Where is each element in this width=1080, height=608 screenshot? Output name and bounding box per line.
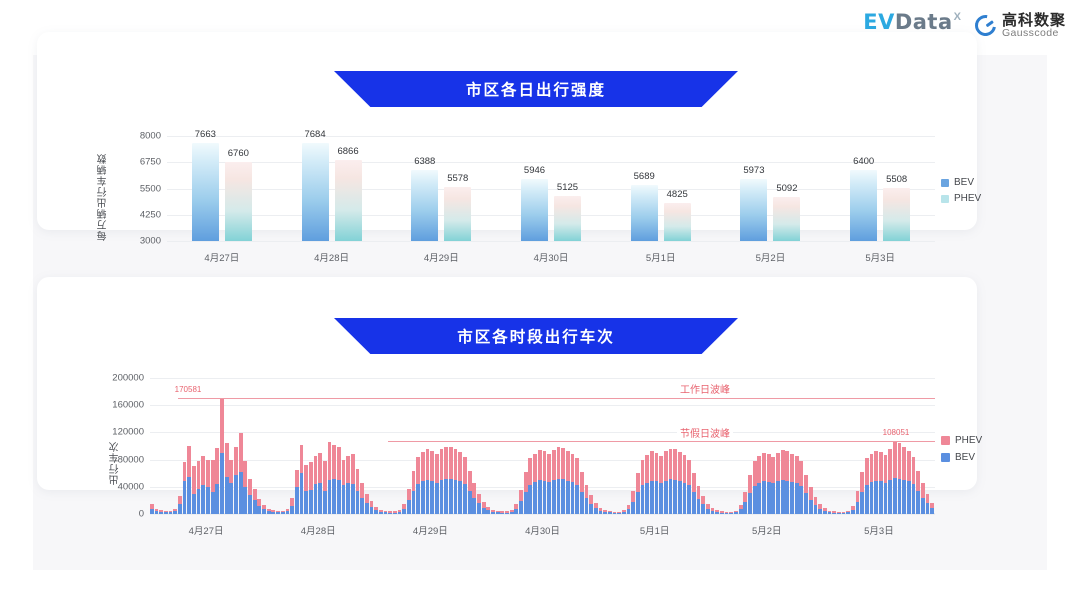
chart2-segment-bev: [440, 480, 444, 514]
chart2-stacked-column: [856, 491, 860, 514]
chart2-segment-bev: [865, 485, 869, 514]
chart2-segment-bev: [814, 505, 818, 514]
chart2-segment-phev: [865, 458, 869, 485]
chart2-stacked-column: [463, 457, 467, 514]
chart2-segment-phev: [444, 447, 448, 479]
chart2-stacked-column: [566, 451, 570, 514]
chart2-segment-phev: [234, 447, 238, 474]
chart2-stacked-column: [328, 442, 332, 514]
chart2-segment-phev: [239, 433, 243, 472]
chart2-segment-phev: [804, 475, 808, 493]
chart2-stacked-column: [701, 496, 705, 514]
chart1-bar-value-label: 5578: [444, 173, 471, 184]
chart2-segment-bev: [323, 491, 327, 514]
chart2-segment-phev: [435, 454, 439, 483]
chart1-x-tick-label: 4月27日: [204, 250, 239, 264]
chart1-legend: BEVPHEV: [941, 177, 981, 204]
chart2-segment-bev: [528, 485, 532, 514]
chart2-segment-phev: [655, 453, 659, 482]
chart2-stacked-column: [477, 494, 481, 514]
chart2-segment-bev: [879, 481, 883, 514]
chart2-segment-phev: [860, 472, 864, 492]
chart2-segment-bev: [557, 479, 561, 514]
chart2-segment-bev: [613, 513, 617, 514]
chart2-stacked-column: [346, 456, 350, 514]
chart2-segment-phev: [683, 455, 687, 483]
chart2-segment-phev: [314, 456, 318, 485]
chart2-x-tick-label: 4月30日: [525, 523, 560, 537]
chart1-x-tick-label: 4月30日: [534, 250, 569, 264]
chart2-segment-phev: [650, 451, 654, 480]
chart2-segment-phev: [902, 447, 906, 480]
chart2-segment-phev: [636, 473, 640, 492]
chart2-segment-bev: [486, 510, 490, 514]
chart2-stacked-column: [505, 511, 509, 514]
chart2-peak-value-weekday: 170581: [175, 385, 202, 394]
chart2-stacked-column: [753, 461, 757, 514]
chart1-bar-phev: 6760: [225, 162, 252, 241]
chart2-segment-phev: [468, 471, 472, 491]
chart2-segment-phev: [697, 486, 701, 499]
chart1-bar-bev: 7663: [192, 143, 219, 241]
chart1-gridline: [167, 241, 935, 242]
chart2-x-tick-label: 4月28日: [301, 523, 336, 537]
chart2-segment-phev: [290, 498, 294, 505]
chart2-stacked-column: [893, 441, 897, 514]
chart2-segment-phev: [916, 471, 920, 491]
chart2-segment-phev: [757, 456, 761, 483]
chart2-stacked-column: [538, 450, 542, 514]
chart2-stacked-column: [571, 454, 575, 515]
chart2-legend-swatch: [941, 453, 950, 462]
chart1-bar-bev: 5689: [631, 185, 658, 241]
chart2-stacked-column: [575, 458, 579, 514]
chart2-stacked-column: [916, 471, 920, 515]
chart2-legend-label: PHEV: [955, 435, 982, 446]
chart2-segment-phev: [753, 461, 757, 486]
chart2-stacked-column: [435, 454, 439, 514]
chart2-segment-bev: [220, 453, 224, 514]
chart2-segment-bev: [622, 512, 626, 514]
chart2-stacked-column: [211, 460, 215, 514]
chart2-stacked-column: [781, 450, 785, 514]
chart2-stacked-column: [715, 510, 719, 514]
chart2-stacked-column: [421, 452, 425, 514]
chart1-bar-value-label: 5973: [740, 165, 767, 176]
chart2-stacked-column: [823, 508, 827, 514]
chart2-stacked-column: [846, 511, 850, 514]
chart2-segment-bev: [790, 482, 794, 514]
chart2-stacked-column: [767, 454, 771, 514]
chart2-segment-phev: [785, 451, 789, 481]
chart1-y-tick-label: 3000: [140, 236, 161, 247]
chart2-segment-bev: [239, 472, 243, 514]
chart2-segment-bev: [851, 510, 855, 514]
chart2-segment-phev: [458, 452, 462, 481]
chart2-stacked-column: [884, 455, 888, 514]
chart2-segment-phev: [328, 442, 332, 480]
chart2-segment-bev: [860, 492, 864, 514]
chart2-x-tick-label: 5月2日: [752, 523, 782, 537]
chart2-stacked-column: [197, 461, 201, 514]
chart1-bar-value-label: 4825: [664, 189, 691, 200]
chart1-x-tick-label: 5月1日: [646, 250, 676, 264]
chart2-stacked-column: [407, 489, 411, 514]
chart2-segment-bev: [201, 485, 205, 514]
chart2-gridline: [150, 514, 935, 515]
chart2-segment-bev: [697, 499, 701, 514]
chart2-stacked-column: [169, 511, 173, 514]
chart2-segment-bev: [150, 509, 154, 514]
chart2-segment-bev: [505, 513, 509, 514]
chart2-x-tick-label: 5月3日: [864, 523, 894, 537]
chart2-segment-phev: [243, 461, 247, 487]
chart2-segment-bev: [286, 511, 290, 514]
chart2-segment-phev: [178, 496, 182, 504]
chart2-peak-value-holiday: 108051: [883, 428, 910, 437]
chart1-bar-group: 59735092: [740, 136, 800, 241]
chart2-stacked-column: [286, 509, 290, 514]
chart2-segment-phev: [360, 483, 364, 498]
chart2-segment-phev: [426, 449, 430, 480]
chart2-segment-bev: [159, 512, 163, 514]
chart2-legend-swatch: [941, 436, 950, 445]
chart2-segment-bev: [926, 503, 930, 514]
chart2-segment-phev: [201, 456, 205, 486]
chart2-stacked-column: [332, 445, 336, 514]
chart2-stacked-column: [669, 449, 673, 514]
chart2-stacked-column: [388, 511, 392, 514]
chart2-segment-bev: [912, 484, 916, 514]
chart2-segment-bev: [706, 509, 710, 514]
chart2-segment-bev: [599, 511, 603, 514]
chart2-segment-phev: [687, 460, 691, 486]
chart2-segment-phev: [533, 454, 537, 483]
chart2-stacked-column: [524, 472, 528, 514]
chart2-segment-phev: [659, 456, 663, 483]
chart2-segment-phev: [416, 457, 420, 484]
chart1-x-tick-label: 4月29日: [424, 250, 459, 264]
chart2-stacked-column: [734, 511, 738, 514]
chart2-stacked-column: [229, 460, 233, 514]
gausscode-logo-en: Gausscode: [1002, 28, 1066, 39]
chart2-stacked-column: [641, 460, 645, 514]
chart2-segment-bev: [804, 493, 808, 514]
chart2-segment-phev: [323, 461, 327, 491]
chart2-segment-bev: [575, 485, 579, 514]
chart2-stacked-column: [898, 443, 902, 514]
chart2-segment-phev: [748, 475, 752, 493]
chart2-segment-phev: [295, 470, 299, 487]
chart2-stacked-column: [902, 447, 906, 514]
chart2-segment-bev: [225, 477, 229, 514]
chart2-segment-phev: [870, 454, 874, 483]
chart2-segment-bev: [360, 498, 364, 514]
chart1-legend-label: PHEV: [954, 193, 981, 204]
chart2-segment-bev: [206, 487, 210, 514]
chart2-segment-bev: [603, 512, 607, 514]
chart2-segment-phev: [220, 398, 224, 453]
chart2-segment-phev: [669, 449, 673, 480]
chart2-segment-bev: [580, 492, 584, 514]
chart2-stacked-column: [874, 451, 878, 514]
chart2-segment-phev: [566, 451, 570, 481]
chart2-segment-bev: [687, 485, 691, 514]
chart2-stacked-column: [500, 511, 504, 514]
chart2-segment-bev: [809, 500, 813, 514]
chart2-stacked-column: [374, 507, 378, 514]
chart2-segment-bev: [384, 512, 388, 514]
chart2-segment-phev: [304, 465, 308, 491]
chart2-segment-bev: [669, 479, 673, 514]
chart2-stacked-column: [300, 445, 304, 514]
chart1-y-axis-title: 每万辆出行车辆数: [96, 136, 111, 241]
evdata-logo-ev: EV: [863, 12, 895, 33]
chart2-segment-bev: [351, 484, 355, 514]
chart1-bar-value-label: 6760: [225, 148, 252, 159]
chart2-segment-bev: [192, 494, 196, 514]
chart2-segment-phev: [888, 449, 892, 480]
chart2-segment-bev: [725, 513, 729, 514]
chart2-segment-bev: [627, 509, 631, 514]
chart2-stacked-column: [865, 458, 869, 514]
chart2-segment-bev: [767, 482, 771, 514]
chart2-segment-bev: [561, 479, 565, 514]
chart1-bar-phev: 5092: [773, 197, 800, 241]
chart2-stacked-column: [491, 510, 495, 514]
chart2-segment-phev: [300, 445, 304, 474]
chart2-stacked-column: [678, 452, 682, 514]
chart2-stacked-column: [580, 472, 584, 514]
chart2-stacked-column: [921, 483, 925, 514]
chart2-stacked-column: [631, 491, 635, 514]
chart2-stacked-column: [243, 461, 247, 514]
chart2-segment-bev: [173, 511, 177, 514]
chart2-segment-phev: [809, 487, 813, 500]
chart2-segment-bev: [846, 512, 850, 514]
chart1-bar-bev: 5946: [521, 179, 548, 241]
chart2-stacked-column: [608, 511, 612, 514]
chart2-stacked-column: [725, 512, 729, 514]
chart2-segment-bev: [748, 493, 752, 514]
chart2-segment-phev: [524, 472, 528, 492]
chart2-plot-area: 040000800001200001600002000004月27日4月28日4…: [150, 378, 935, 514]
chart2-segment-phev: [337, 447, 341, 480]
chart2-stacked-column: [771, 457, 775, 514]
chart2-stacked-column: [594, 503, 598, 514]
chart2-segment-bev: [444, 479, 448, 514]
chart2-stacked-column: [804, 475, 808, 514]
chart2-stacked-column: [907, 451, 911, 514]
chart1-bar-phev: 6866: [335, 160, 362, 241]
chart2-stacked-column: [528, 458, 532, 514]
chart2-segment-bev: [416, 484, 420, 514]
chart2-segment-bev: [379, 512, 383, 514]
chart2-segment-phev: [407, 489, 411, 501]
chart2-stacked-column: [379, 510, 383, 514]
chart2-segment-bev: [519, 501, 523, 514]
chart1-bar-phev: 4825: [664, 203, 691, 241]
chart2-segment-phev: [183, 462, 187, 481]
chart2-segment-bev: [870, 482, 874, 514]
chart2-segment-bev: [884, 483, 888, 514]
chart2-segment-bev: [346, 483, 350, 514]
chart2-stacked-column: [599, 508, 603, 514]
chart2-segment-phev: [342, 460, 346, 486]
chart2-stacked-column: [426, 449, 430, 514]
chart2-stacked-column: [650, 451, 654, 514]
chart2-segment-bev: [888, 480, 892, 514]
chart2-stacked-column: [458, 452, 462, 514]
chart2-segment-bev: [342, 485, 346, 514]
chart2-segment-phev: [664, 451, 668, 480]
chart1-bar-value-label: 5125: [554, 182, 581, 193]
chart2-segment-phev: [477, 494, 481, 504]
chart2-stacked-column: [365, 494, 369, 514]
chart2-stacked-column: [402, 504, 406, 514]
chart2-segment-bev: [197, 489, 201, 514]
chart2-segment-phev: [356, 469, 360, 491]
chart2-stacked-column: [257, 499, 261, 514]
chart2-segment-bev: [253, 500, 257, 514]
chart2-x-tick-label: 4月29日: [413, 523, 448, 537]
chart2-stacked-column: [304, 465, 308, 514]
chart2-segment-bev: [514, 509, 518, 514]
chart2-stacked-column: [818, 504, 822, 514]
chart2-stacked-column: [164, 511, 168, 514]
chart2-segment-bev: [388, 513, 392, 514]
chart2-stacked-column: [762, 453, 766, 514]
chart1-legend-item: PHEV: [941, 193, 981, 204]
chart2-segment-bev: [482, 508, 486, 514]
chart2-segment-bev: [898, 479, 902, 514]
chart2-segment-bev: [921, 498, 925, 514]
chart2-segment-bev: [243, 487, 247, 514]
chart2-stacked-column: [851, 506, 855, 514]
chart2-segment-phev: [771, 457, 775, 484]
chart2-segment-bev: [856, 502, 860, 514]
chart2-segment-bev: [907, 481, 911, 514]
chart1-bar-value-label: 7684: [302, 129, 329, 140]
chart2-stacked-column: [785, 451, 789, 514]
chart1-y-tick-label: 8000: [140, 131, 161, 142]
chart2-segment-bev: [608, 512, 612, 514]
chart2-segment-bev: [916, 491, 920, 514]
chart2-segment-phev: [814, 497, 818, 505]
chart-title-banner-hourly-trips: 市区各时段出行车次: [334, 318, 738, 354]
chart2-x-tick-label: 4月27日: [189, 523, 224, 537]
chart2-segment-phev: [701, 496, 705, 505]
chart2-segment-bev: [328, 480, 332, 514]
chart2-segment-phev: [440, 449, 444, 480]
chart2-stacked-column: [267, 509, 271, 514]
chart2-segment-bev: [510, 512, 514, 514]
chart2-stacked-column: [295, 470, 299, 514]
chart2-segment-phev: [421, 452, 425, 481]
chart2-stacked-column: [262, 505, 266, 514]
chart2-segment-bev: [463, 484, 467, 514]
chart2-segment-phev: [197, 461, 201, 489]
chart2-segment-bev: [257, 506, 261, 514]
chart2-segment-bev: [332, 479, 336, 514]
chart2-segment-phev: [206, 460, 210, 487]
chart2-segment-phev: [921, 483, 925, 497]
chart-title-banner-daily-intensity: 市区各日出行强度: [334, 71, 738, 107]
chart2-stacked-column: [888, 449, 892, 514]
chart2-stacked-column: [603, 510, 607, 514]
chart2-gridline: [150, 432, 935, 433]
chart2-segment-bev: [370, 507, 374, 514]
chart2-segment-bev: [169, 512, 173, 514]
chart2-stacked-column: [589, 495, 593, 514]
chart2-annotation-line-holiday: [388, 441, 935, 442]
chart1-bar-group: 63885578: [411, 136, 471, 241]
chart2-stacked-column: [743, 492, 747, 514]
chart2-stacked-column: [683, 455, 687, 514]
chart2-segment-bev: [187, 477, 191, 514]
chart2-segment-bev: [407, 500, 411, 514]
chart2-annotation-label-weekday: 工作日波峰: [677, 381, 733, 396]
chart2-segment-bev: [472, 498, 476, 514]
chart2-segment-phev: [907, 451, 911, 481]
chart2-segment-bev: [617, 513, 621, 514]
chart1-legend-label: BEV: [954, 177, 974, 188]
chart1-legend-item: BEV: [941, 177, 981, 188]
chart2-stacked-column: [729, 512, 733, 514]
chart2-segment-bev: [271, 512, 275, 514]
chart2-stacked-column: [482, 502, 486, 514]
chart2-segment-phev: [781, 450, 785, 480]
chart2-stacked-column: [342, 460, 346, 514]
chart2-segment-bev: [823, 511, 827, 514]
chart2-segment-bev: [458, 481, 462, 514]
chart1-bar-group: 56894825: [631, 136, 691, 241]
chart2-stacked-column: [659, 456, 663, 514]
chart2-stacked-column: [617, 512, 621, 515]
chart2-segment-bev: [828, 512, 832, 514]
chart2-stacked-column: [449, 447, 453, 514]
chart2-y-tick-label: 200000: [112, 373, 144, 384]
chart2-segment-bev: [762, 481, 766, 514]
chart2-stacked-column: [510, 510, 514, 514]
chart2-segment-bev: [374, 510, 378, 514]
chart2-segment-phev: [365, 494, 369, 504]
chart2-stacked-column: [711, 508, 715, 514]
chart2-stacked-column: [440, 449, 444, 514]
chart2-segment-phev: [641, 460, 645, 486]
chart2-segment-bev: [785, 481, 789, 514]
chart2-segment-phev: [412, 471, 416, 491]
chart2-segment-bev: [543, 481, 547, 514]
chart2-segment-bev: [449, 479, 453, 514]
chart2-segment-phev: [856, 491, 860, 502]
chart2-stacked-column: [814, 497, 818, 514]
chart2-stacked-column: [187, 446, 191, 514]
chart2-segment-phev: [557, 447, 561, 478]
chart2-segment-bev: [673, 480, 677, 514]
chart2-segment-bev: [533, 482, 537, 514]
chart2-stacked-column: [828, 511, 832, 514]
chart2-segment-phev: [795, 456, 799, 483]
chart2-segment-bev: [477, 503, 481, 514]
chart2-segment-bev: [421, 481, 425, 514]
chart2-segment-phev: [309, 462, 313, 489]
chart2-segment-bev: [842, 513, 846, 514]
chart2-segment-bev: [692, 492, 696, 514]
chart2-segment-bev: [650, 481, 654, 514]
chart2-stacked-column: [673, 449, 677, 514]
chart1-legend-swatch: [941, 179, 949, 187]
